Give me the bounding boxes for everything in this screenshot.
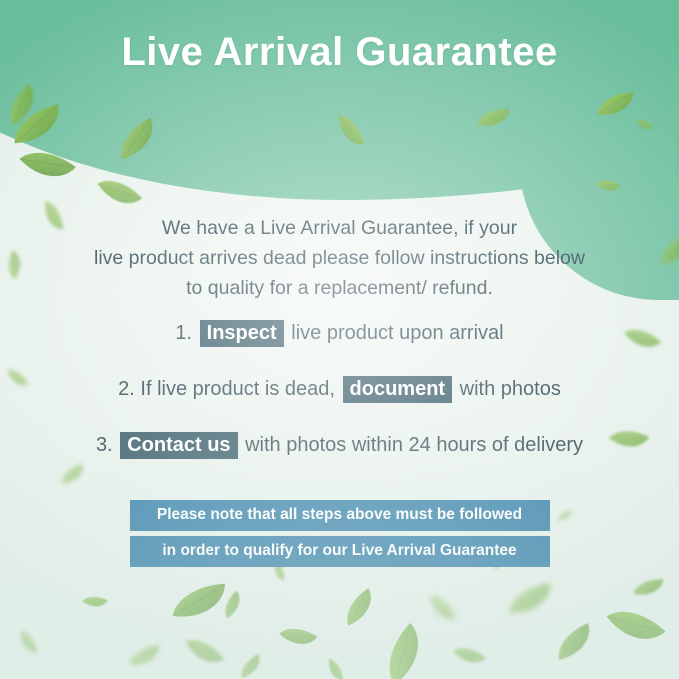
step-text-2-after: with photos — [460, 378, 561, 400]
step-number-2: 2. — [118, 378, 135, 400]
step-number-1: 1. — [175, 322, 192, 344]
step-text-1: live product upon arrival — [291, 322, 503, 344]
step-text-2-before: If live product is dead, — [140, 378, 335, 400]
leaf-icon — [549, 620, 600, 667]
step-number-3: 3. — [96, 434, 113, 456]
step-item-2: 2. If live product is dead, document wit… — [0, 376, 679, 403]
step-text-3: with photos within 24 hours of delivery — [245, 434, 583, 456]
leaf-icon — [124, 642, 166, 671]
leaf-icon — [276, 622, 320, 651]
step-highlight-contact-us[interactable]: Contact us — [120, 432, 237, 459]
intro-line-3: to quality for a replacement/ refund. — [75, 273, 605, 303]
leaf-icon — [181, 631, 228, 674]
leaf-icon — [40, 197, 66, 234]
note-banner: Please note that all steps above must be… — [130, 500, 550, 572]
leaf-icon — [502, 579, 559, 621]
leaf-icon — [601, 599, 669, 654]
steps-list: 1. Inspect live product upon arrival 2. … — [0, 320, 679, 488]
leaf-icon — [631, 577, 668, 600]
leaf-icon — [555, 509, 575, 524]
step-highlight-inspect[interactable]: Inspect — [200, 320, 284, 347]
intro-paragraph: We have a Live Arrival Guarantee, if you… — [75, 213, 605, 303]
live-arrival-guarantee-poster: Live Arrival Guarantee We have a Live Ar… — [0, 0, 679, 679]
leaf-icon — [16, 627, 40, 658]
intro-line-1: We have a Live Arrival Guarantee, if you… — [75, 213, 605, 243]
leaf-icon — [425, 589, 460, 628]
step-item-3: 3. Contact us with photos within 24 hour… — [0, 432, 679, 459]
leaf-icon — [450, 642, 488, 671]
leaf-icon — [325, 656, 345, 679]
page-title: Live Arrival Guarantee — [0, 30, 679, 75]
leaf-icon — [338, 585, 382, 631]
note-line-2: in order to qualify for our Live Arrival… — [130, 536, 550, 567]
note-line-1: Please note that all steps above must be… — [130, 500, 550, 531]
leaf-icon — [235, 652, 267, 679]
step-item-1: 1. Inspect live product upon arrival — [0, 320, 679, 347]
leaf-icon — [6, 249, 25, 281]
leaf-icon — [376, 619, 433, 679]
intro-line-2: live product arrives dead please follow … — [75, 243, 605, 273]
leaf-icon — [165, 579, 235, 626]
leaf-icon — [81, 593, 109, 610]
step-highlight-document[interactable]: document — [343, 376, 453, 403]
